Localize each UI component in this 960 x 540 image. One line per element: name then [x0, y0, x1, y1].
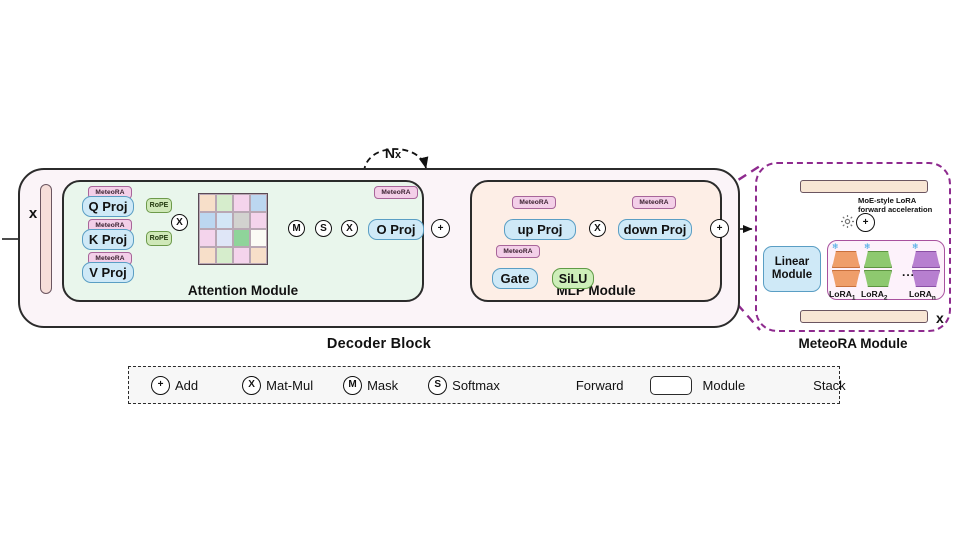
rope-k-box: RoPE	[146, 231, 172, 246]
attention-weight-grid	[198, 193, 268, 265]
legend-label-forward: Forward	[576, 378, 624, 393]
input-embedding-bar	[40, 184, 52, 294]
moe-note-line2: forward acceleration	[858, 205, 954, 214]
legend-item-mask: M Mask	[343, 376, 398, 395]
lora-down-trapezoid	[832, 270, 860, 287]
legend-item-matmul: X Mat-Mul	[242, 376, 313, 395]
meteora-input-bar	[800, 310, 928, 323]
attention-module-label: Attention Module	[62, 283, 424, 298]
lora-name-base: LoRA	[909, 289, 932, 299]
diagram-canvas: Decoder Block x Nx Attention Module Mete…	[0, 0, 960, 540]
linear-module-box[interactable]: Linear Module	[763, 246, 821, 292]
lora-up-trapezoid	[832, 251, 860, 268]
moe-acceleration-note: MoE-style LoRA forward acceleration	[858, 196, 954, 215]
attention-grid-cell	[233, 212, 250, 230]
attention-grid-cell	[233, 247, 250, 265]
lora-name-index: n	[932, 295, 936, 302]
v-proj-box[interactable]: V Proj	[82, 262, 134, 283]
lora-label: LoRA2	[861, 289, 887, 302]
attention-add-icon: +	[431, 219, 450, 238]
meteora-badge-up: MeteoRA	[512, 196, 556, 209]
attention-grid-cell	[250, 212, 267, 230]
decoder-block-label: Decoder Block	[18, 336, 740, 352]
attention-grid-cell	[216, 247, 233, 265]
mlp-add-icon: +	[710, 219, 729, 238]
lora-name-index: 2	[884, 295, 888, 302]
legend-label-stack: Stack	[813, 378, 846, 393]
softmax-circle-icon: S	[428, 376, 447, 395]
input-label: x	[20, 205, 46, 222]
legend-item-module: Module	[650, 376, 746, 395]
legend-item-add: + Add	[151, 376, 198, 395]
meteora-badge-o: MeteoRA	[374, 186, 418, 199]
attention-grid-cell	[216, 229, 233, 247]
legend-label-mask: Mask	[367, 378, 398, 393]
linear-module-line1: Linear	[775, 256, 810, 269]
q-proj-box[interactable]: Q Proj	[82, 196, 134, 217]
legend-item-stack: Stack	[813, 378, 846, 393]
attention-grid-cell	[199, 229, 216, 247]
attention-grid-cell	[216, 212, 233, 230]
matmul-mlp-icon: X	[589, 220, 606, 237]
attention-grid-cell	[250, 194, 267, 212]
snowflake-icon: ❄	[832, 243, 839, 251]
meteora-input-label: x	[936, 310, 944, 326]
legend-label-matmul: Mat-Mul	[266, 378, 313, 393]
lora-down-trapezoid	[912, 270, 940, 287]
snowflake-icon: ❄	[912, 243, 919, 251]
up-proj-box[interactable]: up Proj	[504, 219, 576, 240]
meteora-output-bar	[800, 180, 928, 193]
legend-item-softmax: S Softmax	[428, 376, 500, 395]
meteora-add-icon: +	[856, 213, 875, 232]
lora-label: LoRAn	[909, 289, 936, 302]
lora-down-trapezoid	[864, 270, 892, 287]
module-box-icon	[650, 376, 692, 395]
legend-label-module: Module	[703, 378, 746, 393]
mask-circle-icon: M	[343, 376, 362, 395]
lora-expert[interactable]: ❄LoRAn	[912, 245, 940, 287]
legend-item-forward: Forward	[576, 378, 624, 393]
attention-grid-cell	[199, 247, 216, 265]
meteora-badge-down: MeteoRA	[632, 196, 676, 209]
stack-count-label: Nx	[358, 145, 428, 161]
gear-icon	[840, 214, 855, 229]
lora-expert[interactable]: ❄LoRA1	[832, 245, 860, 287]
down-proj-box[interactable]: down Proj	[618, 219, 692, 240]
moe-note-line1: MoE-style LoRA	[858, 196, 954, 205]
lora-pool-container: ... ❄LoRA1❄LoRA2❄LoRAn	[827, 240, 945, 300]
stack-count-value: N	[385, 145, 395, 161]
attention-grid-cell	[250, 247, 267, 265]
lora-name-base: LoRA	[829, 289, 852, 299]
meteora-module-label: MeteoRA Module	[755, 336, 951, 351]
mask-icon: M	[288, 220, 305, 237]
legend-container: + Add X Mat-Mul M Mask S Softmax Forward…	[128, 366, 840, 404]
matmul-qk-icon: X	[171, 214, 188, 231]
silu-box: SiLU	[552, 268, 594, 289]
stack-count-suffix: x	[395, 149, 401, 161]
attention-grid-cell	[199, 194, 216, 212]
legend-label-softmax: Softmax	[452, 378, 500, 393]
matmul-av-icon: X	[341, 220, 358, 237]
lora-up-trapezoid	[912, 251, 940, 268]
softmax-icon: S	[315, 220, 332, 237]
gate-box[interactable]: Gate	[492, 268, 538, 289]
lora-name-index: 1	[852, 295, 856, 302]
meteora-badge-gate: MeteoRA	[496, 245, 540, 258]
snowflake-icon: ❄	[864, 243, 871, 251]
attention-grid-cell	[233, 229, 250, 247]
lora-expert[interactable]: ❄LoRA2	[864, 245, 892, 287]
times-circle-icon: X	[242, 376, 261, 395]
attention-grid-cell	[216, 194, 233, 212]
legend-label-add: Add	[175, 378, 198, 393]
attention-grid-cell	[250, 229, 267, 247]
attention-grid-cell	[199, 212, 216, 230]
attention-grid-cell	[233, 194, 250, 212]
o-proj-box[interactable]: O Proj	[368, 219, 424, 240]
rope-q-box: RoPE	[146, 198, 172, 213]
k-proj-box[interactable]: K Proj	[82, 229, 134, 250]
lora-label: LoRA1	[829, 289, 855, 302]
lora-name-base: LoRA	[861, 289, 884, 299]
plus-circle-icon: +	[151, 376, 170, 395]
lora-up-trapezoid	[864, 251, 892, 268]
linear-module-line2: Module	[772, 269, 812, 282]
